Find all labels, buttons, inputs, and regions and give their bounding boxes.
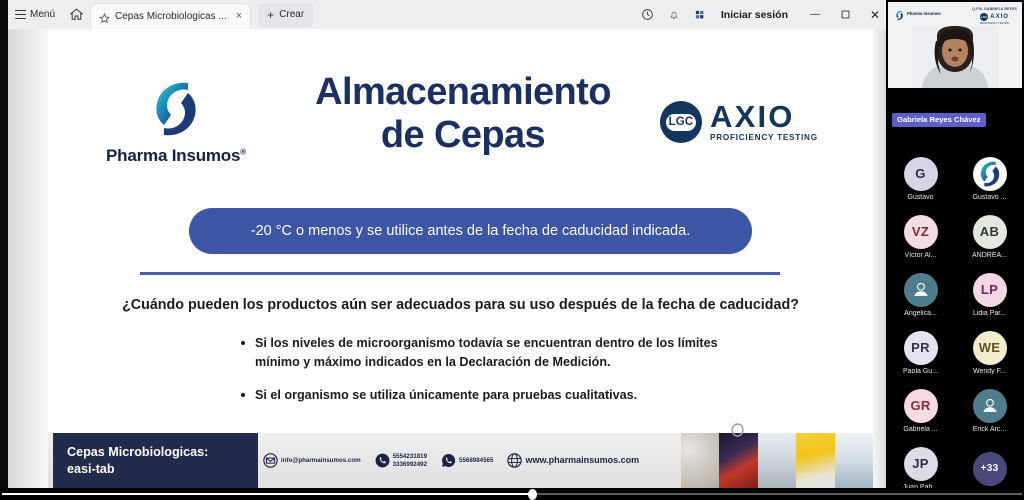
plus-icon: +: [267, 9, 274, 21]
page-title-line-1: Almacenamiento: [248, 71, 678, 114]
participant-tile[interactable]: VZVíctor Al...: [886, 208, 955, 265]
window-minimize-button[interactable]: —: [800, 0, 830, 29]
slide-footer-contacts: info@pharmainsumos.com 5554231819: [263, 433, 639, 488]
browser-tabstrip: Menú Cepas Microbiologicas ... ×: [8, 0, 890, 29]
avatar: WE: [973, 331, 1007, 365]
footer-photo: [758, 433, 796, 488]
footer-photo: [719, 433, 757, 488]
avatar: PR: [904, 331, 938, 365]
scrub-progress: [2, 493, 532, 495]
avatar: AB: [973, 215, 1007, 249]
participant-name-label: Wendy F...: [973, 368, 1006, 375]
person-icon: [973, 389, 1007, 423]
speaker-shared-logo-left-label: Pharma Insumos: [907, 11, 941, 16]
pharma-insumos-wordmark: Pharma Insumos®: [96, 146, 256, 166]
axio-main-label: AXIO: [710, 102, 818, 131]
contact-email-text: info@pharmainsumos.com: [281, 457, 361, 465]
participant-tile[interactable]: GGustavo: [886, 150, 955, 207]
browser-tab-title: Cepas Microbiologicas ...: [115, 11, 227, 22]
speaker-shared-logo-right: Q.F.B. GABRIELA REYES LGC AXIO PROFICIEN…: [972, 7, 1017, 25]
home-button[interactable]: [62, 0, 91, 29]
participant-name-label: Lidia Par...: [973, 310, 1006, 317]
bullet-list: Si los niveles de microorganismo todavía…: [238, 334, 758, 419]
browser-window: Menú Cepas Microbiologicas ... ×: [0, 0, 886, 492]
menu-button[interactable]: Menú: [8, 0, 62, 29]
lgc-axio-logo: LGC AXIO PROFICIENCY TESTING: [660, 101, 818, 143]
active-speaker-video-tile[interactable]: Pharma Insumos Q.F.B. GABRIELA REYES LGC…: [888, 2, 1022, 88]
contact-phone-text: 5554231819 3336992492: [393, 453, 427, 469]
participant-tile[interactable]: Angelica...: [886, 266, 955, 323]
email-icon: [263, 453, 278, 468]
active-speaker-name-label: Gabriela Reyes Chávez: [892, 113, 986, 127]
viewer-left-gutter: [8, 29, 48, 488]
signin-button[interactable]: Iniciar sesión: [713, 9, 800, 21]
speaker-shared-logo-left: Pharma Insumos: [894, 8, 941, 19]
close-icon[interactable]: ×: [234, 11, 244, 22]
participant-name-label: Angelica...: [904, 310, 937, 317]
participant-tile[interactable]: PRPaola Gu...: [886, 324, 955, 381]
lgc-badge-icon: LGC: [660, 101, 702, 143]
contact-phone: 5554231819 3336992492: [375, 453, 427, 469]
list-item: Si los niveles de microorganismo todavía…: [238, 334, 758, 372]
contact-website-text: www.pharmainsumos.com: [525, 455, 639, 466]
contact-email: info@pharmainsumos.com: [263, 453, 361, 468]
pharma-insumos-swirl-icon: [894, 8, 905, 19]
tabstrip-right-group: Iniciar sesión — ✕: [635, 0, 890, 29]
page-title: Almacenamiento de Cepas: [248, 71, 678, 158]
history-icon[interactable]: [635, 0, 661, 29]
question-heading: ¿Cuándo pueden los productos aún ser ade…: [48, 297, 873, 313]
axio-sub-label: PROFICIENCY TESTING: [972, 22, 1017, 25]
storage-condition-pill: -20 °C o menos y se utilice antes de la …: [189, 208, 752, 254]
teams-participants-panel: Pharma Insumos Q.F.B. GABRIELA REYES LGC…: [886, 0, 1024, 500]
phone-icon: [375, 453, 390, 468]
participant-name-label: Paola Gu...: [903, 368, 938, 375]
participant-grid: GGustavoGustavo ...VZVíctor Al...ABANDRE…: [886, 150, 1024, 497]
video-scrub-bar[interactable]: [0, 488, 1024, 500]
pharma-insumos-swirl-icon: [973, 157, 1007, 191]
star-icon: [99, 11, 110, 22]
axio-wordmark: AXIO PROFICIENCY TESTING: [710, 102, 818, 142]
scrub-handle[interactable]: [528, 489, 537, 500]
participant-name-label: Erick Arc...: [973, 426, 1006, 433]
pharma-insumos-swirl-icon: [144, 77, 208, 141]
browser-tab-active[interactable]: Cepas Microbiologicas ... ×: [91, 4, 250, 29]
contact-website: www.pharmainsumos.com: [507, 453, 639, 468]
globe-icon: [507, 453, 522, 468]
participant-tile[interactable]: WEWendy F...: [955, 324, 1024, 381]
footer-photo: [796, 433, 834, 488]
lgc-badge-label: LGC: [666, 114, 696, 131]
avatar: G: [904, 157, 938, 191]
contact-whatsapp: 5568984565: [441, 453, 493, 468]
collections-icon[interactable]: [687, 0, 713, 29]
screen: Menú Cepas Microbiologicas ... ×: [0, 0, 1024, 500]
home-icon: [69, 7, 84, 22]
participant-tile[interactable]: GRGabriela ...: [886, 382, 955, 439]
hamburger-icon: [15, 10, 26, 19]
page-title-line-2: de Cepas: [248, 114, 678, 157]
participant-name-label: Gustavo ...: [973, 194, 1007, 201]
create-tab-button[interactable]: + Crear: [258, 3, 313, 27]
lgc-badge-icon: LGC: [980, 13, 988, 21]
participant-tile[interactable]: Gustavo ...: [955, 150, 1024, 207]
avatar: VZ: [904, 215, 938, 249]
avatar: JP: [904, 447, 938, 481]
speaker-shared-presenter-label: Q.F.B. GABRIELA REYES: [972, 7, 1017, 11]
slide-footer-title-line-2: easi-tab: [67, 461, 258, 478]
axio-sub-label: PROFICIENCY TESTING: [710, 133, 818, 142]
slide-footer-title-plate: Cepas Microbiologicas: easi-tab: [53, 433, 258, 488]
avatar: LP: [973, 273, 1007, 307]
axio-main-label: AXIO: [990, 14, 1009, 20]
avatar: GR: [904, 389, 938, 423]
bell-icon[interactable]: [661, 0, 687, 29]
storage-condition-text: -20 °C o menos y se utilice antes de la …: [251, 223, 690, 239]
participant-name-label: ANDREA...: [972, 252, 1007, 259]
footer-photo: [835, 433, 873, 488]
participant-name-label: Gustavo: [907, 194, 933, 201]
pharma-insumos-logo: Pharma Insumos®: [96, 77, 256, 166]
list-item: Si el organismo se utiliza únicamente pa…: [238, 386, 758, 405]
contact-whatsapp-text: 5568984565: [459, 457, 493, 465]
create-tab-label: Crear: [279, 9, 304, 20]
person-icon: [904, 273, 938, 307]
participant-name-label: Gabriela ...: [903, 426, 937, 433]
presentation-slide[interactable]: Pharma Insumos® Almacenamiento de Cepas …: [48, 29, 873, 488]
page-viewport: Pharma Insumos® Almacenamiento de Cepas …: [8, 29, 890, 488]
speaker-webcam-figure: [912, 26, 998, 88]
divider: [140, 272, 780, 275]
slide-footer-photo-strip: [681, 433, 873, 488]
slide-footer: Cepas Microbiologicas: easi-tab: [48, 433, 873, 488]
slide-footer-title-line-1: Cepas Microbiologicas:: [67, 444, 258, 461]
menu-button-label: Menú: [30, 9, 55, 20]
window-maximize-button[interactable]: [830, 0, 860, 29]
footer-photo: [681, 433, 719, 488]
whatsapp-icon: [441, 453, 456, 468]
participant-tile[interactable]: ABANDREA...: [955, 208, 1024, 265]
avatar: +33: [973, 452, 1007, 486]
participant-tile[interactable]: LPLidia Par...: [955, 266, 1024, 323]
participant-tile[interactable]: Erick Arc...: [955, 382, 1024, 439]
participant-name-label: Víctor Al...: [905, 252, 937, 259]
